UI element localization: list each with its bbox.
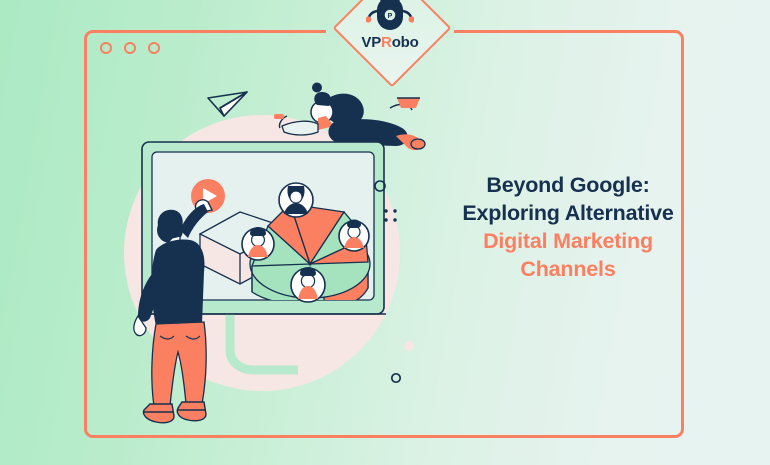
- svg-text:P: P: [388, 13, 393, 20]
- page-title: Beyond Google: Exploring Alternative Dig…: [452, 172, 684, 284]
- logo-text-part2: obo: [392, 34, 419, 51]
- logo-text-accent: R: [381, 34, 392, 51]
- window-dot-icon-1: [100, 42, 112, 54]
- avatar-badge-4: [291, 267, 325, 302]
- avatar-badge-1: [279, 183, 313, 217]
- decorative-circle-small: [392, 374, 400, 382]
- hero-illustration: [112, 78, 442, 426]
- logo-text-part1: VP: [361, 34, 381, 51]
- headline-line-3: Digital Marketing: [452, 228, 684, 256]
- avatar-badge-3: [242, 227, 274, 260]
- window-dot-icon-3: [148, 42, 160, 54]
- marketing-banner: P VPRobo: [0, 0, 770, 465]
- window-dot-icon-2: [124, 42, 136, 54]
- window-controls: [100, 42, 160, 54]
- decorative-dot-blush: [404, 341, 414, 351]
- headline-line-1: Beyond Google:: [452, 172, 684, 200]
- avatar-badge-2: [339, 220, 369, 252]
- headline-line-4: Channels: [452, 256, 684, 284]
- paper-plane-icon: [208, 92, 247, 116]
- headline-line-2: Exploring Alternative: [452, 200, 684, 228]
- logo-wordmark: VPRobo: [336, 34, 444, 51]
